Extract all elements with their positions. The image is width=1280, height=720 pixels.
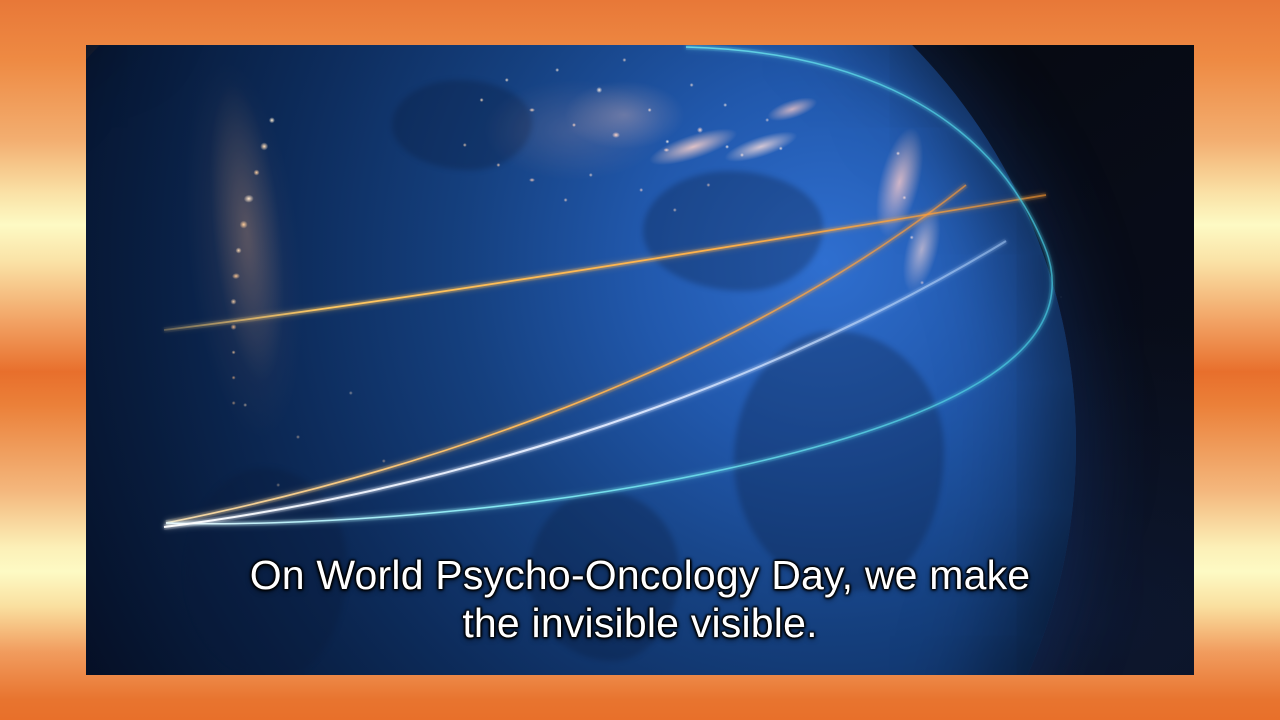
- screenshot-stage: On World Psycho-Oncology Day, we make th…: [0, 0, 1280, 720]
- video-caption: On World Psycho-Oncology Day, we make th…: [86, 551, 1194, 647]
- caption-line-1: On World Psycho-Oncology Day, we make: [126, 551, 1154, 599]
- video-player-frame[interactable]: On World Psycho-Oncology Day, we make th…: [86, 45, 1194, 675]
- caption-line-2: the invisible visible.: [126, 599, 1154, 647]
